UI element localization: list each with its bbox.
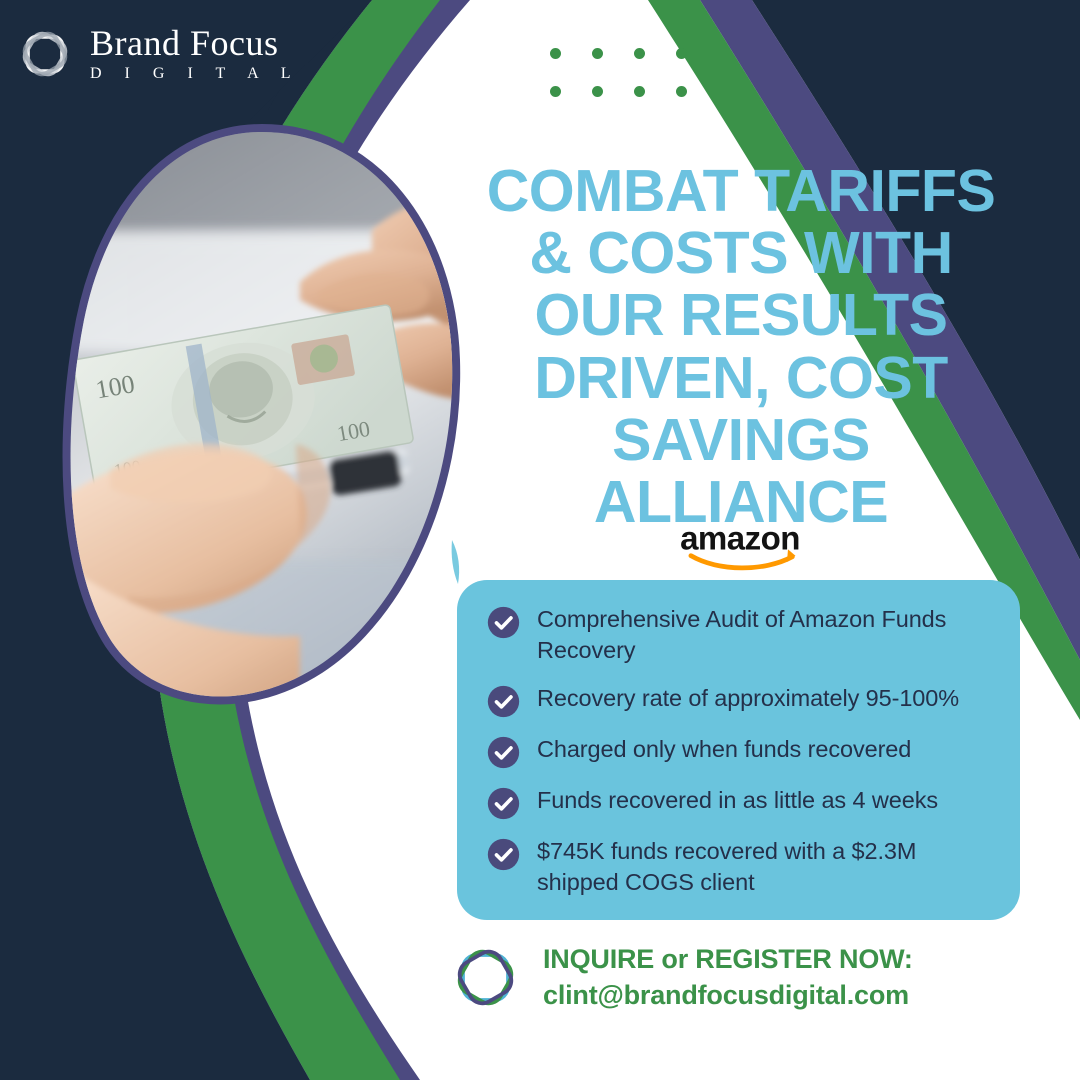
list-item: Recovery rate of approximately 95-100% (487, 683, 994, 718)
dot (634, 48, 645, 59)
dot (592, 48, 603, 59)
cta-headline: INQUIRE or REGISTER NOW: (543, 943, 913, 976)
list-item: Funds recovered in as little as 4 weeks (487, 785, 994, 820)
brand-name: Brand Focus (90, 25, 300, 61)
cta-text-lines: INQUIRE or REGISTER NOW: clint@brandfocu… (543, 943, 913, 1012)
dot (676, 86, 687, 97)
brand-rings-logo (448, 940, 523, 1015)
dot (550, 86, 561, 97)
brand-wordmark: Brand Focus D I G I T A L (90, 25, 300, 83)
benefit-text: Comprehensive Audit of Amazon Funds Reco… (537, 604, 994, 667)
dot (676, 48, 687, 59)
benefit-text: $745K funds recovered with a $2.3M shipp… (537, 836, 994, 899)
check-circle-icon (487, 736, 520, 769)
benefit-text: Recovery rate of approximately 95-100% (537, 683, 959, 714)
list-item: Comprehensive Audit of Amazon Funds Reco… (487, 604, 994, 667)
benefit-text: Funds recovered in as little as 4 weeks (537, 785, 938, 816)
dot-grid-decoration (550, 48, 688, 98)
dot (634, 86, 645, 97)
brand-subtitle: D I G I T A L (90, 65, 300, 83)
page-title: COMBAT TARIFFS & COSTS WITH OUR RESULTS … (462, 160, 1020, 533)
check-circle-icon (487, 787, 520, 820)
cta-contact-block[interactable]: INQUIRE or REGISTER NOW: clint@brandfocu… (448, 940, 913, 1015)
check-circle-icon (487, 685, 520, 718)
poster-canvas: 100 100 100 (0, 0, 1080, 1080)
brand-header: Brand Focus D I G I T A L (0, 0, 360, 108)
benefit-text: Charged only when funds recovered (537, 734, 911, 765)
list-item: $745K funds recovered with a $2.3M shipp… (487, 836, 994, 899)
benefits-card: Comprehensive Audit of Amazon Funds Reco… (457, 580, 1020, 920)
svg-text:amazon: amazon (680, 520, 800, 557)
list-item: Charged only when funds recovered (487, 734, 994, 769)
dot (592, 86, 603, 97)
check-circle-icon (487, 838, 520, 871)
dot (550, 48, 561, 59)
amazon-logo: amazon (660, 516, 820, 572)
cta-email-link[interactable]: clint@brandfocusdigital.com (543, 979, 913, 1012)
interlocking-rings-logo (14, 23, 76, 85)
check-circle-icon (487, 606, 520, 639)
